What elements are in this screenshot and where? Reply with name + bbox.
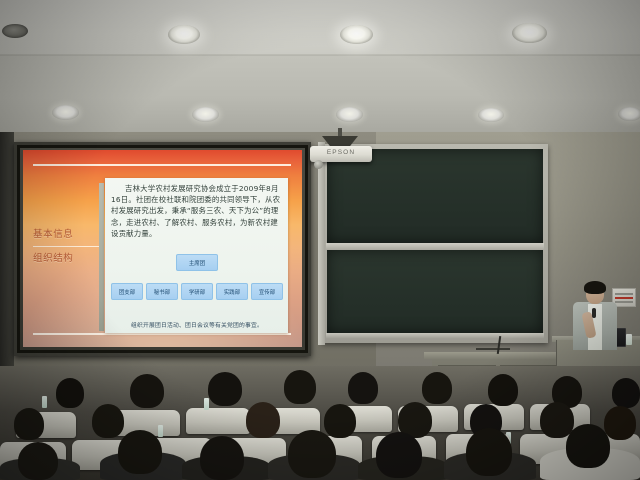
water-bottle-icon xyxy=(42,396,47,408)
handheld-microphone-icon xyxy=(592,308,596,318)
ceiling-light-5 xyxy=(192,107,219,122)
audience-head xyxy=(604,406,636,440)
speaker-hair xyxy=(584,281,606,294)
blackboard-side-rail xyxy=(318,142,325,345)
org-node-1: 团支部 xyxy=(111,283,143,300)
water-bottle-icon xyxy=(204,398,209,410)
projector-lens-icon xyxy=(314,160,323,169)
audience-head xyxy=(376,432,422,478)
ceiling-light-7 xyxy=(478,108,504,122)
slide-content-card: 吉林大学农村发展研究协会成立于2009年8月16日。社团在校社联和院团委的共同领… xyxy=(105,178,288,333)
wall-sign-bar-bottom xyxy=(615,301,633,303)
slide-footer-text: 组织开展团日活动、团日会议等有关党团的事宜。 xyxy=(111,320,283,329)
blackboard xyxy=(322,144,548,343)
audience-head xyxy=(488,374,518,406)
ceiling-light-2 xyxy=(340,25,373,44)
audience-head xyxy=(612,378,640,408)
org-node-5: 宣传部 xyxy=(251,283,283,300)
ceiling-light-1 xyxy=(168,25,200,44)
org-node-root: 主席团 xyxy=(176,254,218,271)
audience-head xyxy=(324,404,356,438)
ceiling-light-3 xyxy=(512,23,547,43)
org-node-row: 团支部 秘书部 学研部 实践部 宣传部 xyxy=(111,283,283,300)
slide-bottom-rule xyxy=(33,333,291,335)
org-node-2: 秘书部 xyxy=(146,283,178,300)
audience-head xyxy=(130,374,164,408)
org-node-3: 学研部 xyxy=(181,283,213,300)
ceiling-light-4 xyxy=(52,105,79,120)
audience-head xyxy=(14,408,44,440)
projector-brand-label: EPSON xyxy=(310,149,372,156)
audience-head xyxy=(288,430,336,478)
blackboard-lower-panel xyxy=(327,250,543,333)
ceiling-lower-soffit xyxy=(0,56,640,132)
slide-body-text: 吉林大学农村发展研究协会成立于2009年8月16日。社团在校社联和院团委的共同领… xyxy=(111,183,283,239)
water-bottle-icon xyxy=(158,425,163,437)
audience-head xyxy=(92,404,124,438)
ceiling-light-8 xyxy=(618,107,640,121)
audience-head xyxy=(200,436,244,480)
audience-head xyxy=(208,372,242,406)
audience-head xyxy=(18,442,58,480)
blackboard-divider xyxy=(326,243,544,250)
ceiling-light-6 xyxy=(336,107,363,122)
audience-head xyxy=(56,378,84,408)
chalk-tray xyxy=(326,333,544,339)
audience-head xyxy=(118,430,162,474)
lecture-hall-photo: 基本信息 组织结构 吉林大学农村发展研究协会成立于2009年8月16日。社团在校… xyxy=(0,0,640,480)
slide-card-spine xyxy=(99,183,104,331)
seat-back xyxy=(186,408,250,434)
audience-head xyxy=(566,424,610,468)
slide-top-rule xyxy=(33,164,291,166)
slide-tab-org-structure: 组织结构 xyxy=(33,247,103,270)
wall-sign-bar-mid xyxy=(615,297,633,299)
audience-head xyxy=(466,428,512,476)
projected-slide: 基本信息 组织结构 吉林大学农村发展研究协会成立于2009年8月16日。社团在校… xyxy=(23,150,302,347)
audience-head xyxy=(348,372,378,404)
left-wall-edge xyxy=(0,132,14,382)
desk-microphone xyxy=(476,348,510,350)
water-bottle-icon xyxy=(626,334,632,345)
wall-sign-bar-top xyxy=(615,293,633,295)
blackboard-upper-panel xyxy=(327,149,543,243)
ceiling-vent-icon xyxy=(2,24,28,38)
org-node-4: 实践部 xyxy=(216,283,248,300)
org-chart: 主席团 团支部 秘书部 学研部 实践部 宣传部 xyxy=(111,254,283,300)
audience-head xyxy=(422,372,452,404)
slide-tab-basic-info: 基本信息 xyxy=(33,223,103,247)
slide-section-tabs: 基本信息 组织结构 xyxy=(33,223,103,270)
audience-head xyxy=(284,370,316,404)
audience-head xyxy=(246,402,280,438)
